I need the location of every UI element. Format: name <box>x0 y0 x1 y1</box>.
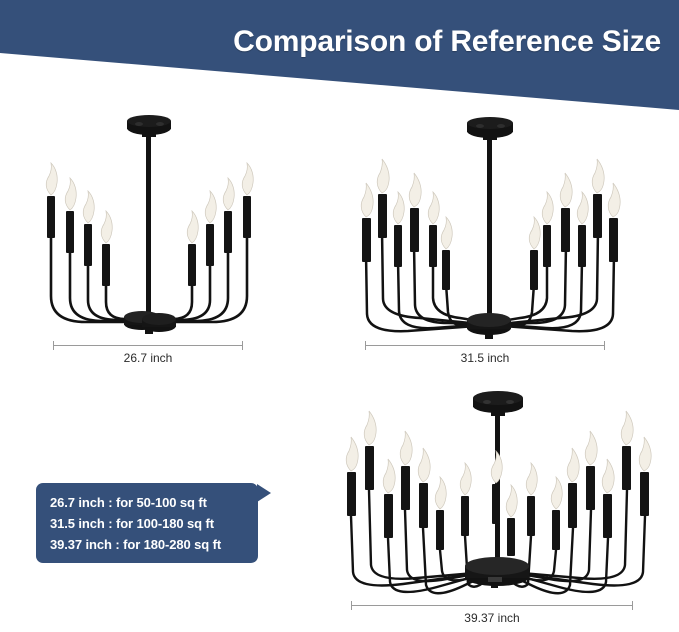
candle <box>187 211 198 286</box>
candle <box>346 437 358 516</box>
chandelier-medium-figure <box>352 112 652 342</box>
candle <box>223 178 234 253</box>
dimension-label-medium: 31.5 inch <box>365 351 605 365</box>
center-hub <box>467 313 511 339</box>
candle <box>361 183 373 262</box>
dimension-tick-left <box>351 601 352 610</box>
ceiling-canopy-icon <box>473 391 523 416</box>
dimension-line <box>365 345 605 346</box>
candle <box>491 451 502 524</box>
candle <box>435 477 446 550</box>
candle <box>65 178 76 253</box>
chandelier-large-illustration <box>337 388 679 610</box>
center-hub <box>124 311 176 334</box>
dimension-tick-left <box>365 341 366 350</box>
down-rod <box>146 136 151 322</box>
ceiling-canopy-icon <box>467 117 513 140</box>
candle <box>242 163 253 238</box>
candle <box>46 163 57 238</box>
candle <box>567 448 579 528</box>
candle <box>592 159 604 238</box>
candle <box>529 217 540 290</box>
candle <box>428 192 439 267</box>
candle <box>377 159 389 238</box>
callout-line-medium: 31.5 inch : for 100-180 sq ft <box>50 513 258 534</box>
dimension-tick-right <box>632 601 633 610</box>
candle <box>460 463 471 536</box>
candle <box>608 183 620 262</box>
candle <box>506 485 517 556</box>
chandelier-small-figure <box>18 112 282 342</box>
candle <box>621 411 633 490</box>
down-rod <box>487 139 492 324</box>
center-hub <box>465 557 529 588</box>
dimension-label-small: 26.7 inch <box>53 351 243 365</box>
candle <box>639 437 651 516</box>
candle <box>409 173 421 252</box>
candle <box>441 217 452 290</box>
candle <box>83 191 94 266</box>
dimension-line <box>351 605 633 606</box>
candle <box>383 459 395 538</box>
dimension-tick-right <box>242 341 243 350</box>
dimension-tick-left <box>53 341 54 350</box>
callout-pointer-icon <box>257 484 271 502</box>
candle <box>205 191 216 266</box>
candle <box>418 448 430 528</box>
dimension-tick-right <box>604 341 605 350</box>
candle <box>602 459 614 538</box>
chandelier-large-figure <box>337 388 679 610</box>
dimension-line <box>53 345 243 346</box>
candle <box>560 173 572 252</box>
page-title: Comparison of Reference Size <box>0 27 679 57</box>
candle <box>542 192 553 267</box>
candle <box>526 463 537 536</box>
candle <box>585 431 597 510</box>
candle <box>400 431 412 510</box>
chandelier-small-illustration <box>18 112 282 342</box>
size-recommendation-callout: 26.7 inch : for 50-100 sq ft 31.5 inch :… <box>36 483 258 563</box>
chandelier-medium-illustration <box>352 112 652 342</box>
callout-line-small: 26.7 inch : for 50-100 sq ft <box>50 492 258 513</box>
candle <box>364 411 376 490</box>
callout-line-large: 39.37 inch : for 180-280 sq ft <box>50 534 258 555</box>
comparison-infographic: Comparison of Reference Size <box>0 0 679 632</box>
dimension-label-large: 39.37 inch <box>351 611 633 625</box>
ceiling-canopy-icon <box>127 115 171 137</box>
candle <box>551 477 562 550</box>
candle <box>393 192 404 267</box>
candle <box>577 192 588 267</box>
candle <box>101 211 112 286</box>
